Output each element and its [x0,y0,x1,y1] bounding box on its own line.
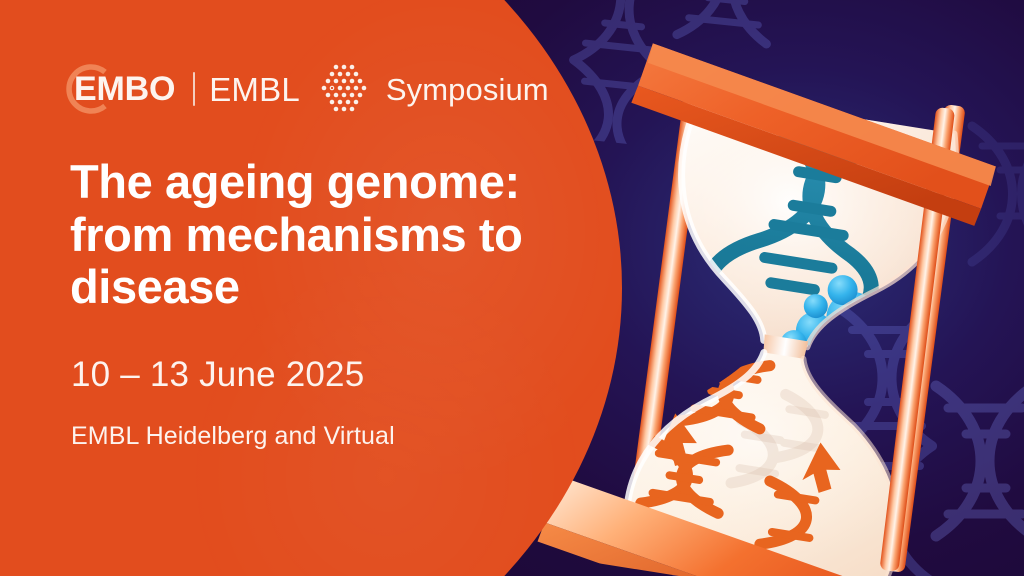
embo-label: EMBO [66,72,175,106]
embl-label: EMBL [209,73,300,106]
event-dates: 10 – 13 June 2025 [71,355,364,395]
logo-bar: EMBO EMBL Symp [66,60,549,118]
embo-logo: EMBO [66,60,175,118]
conference-banner: EMBO EMBL Symp [0,0,1024,576]
symposium-label: Symposium [386,74,549,105]
embl-hexagon-dots-icon [316,61,372,117]
page-title: The ageing genome: from mechanisms to di… [70,156,600,314]
logo-divider [193,72,195,106]
event-venue: EMBL Heidelberg and Virtual [71,422,395,451]
banner-content: EMBO EMBL Symp [0,0,620,576]
